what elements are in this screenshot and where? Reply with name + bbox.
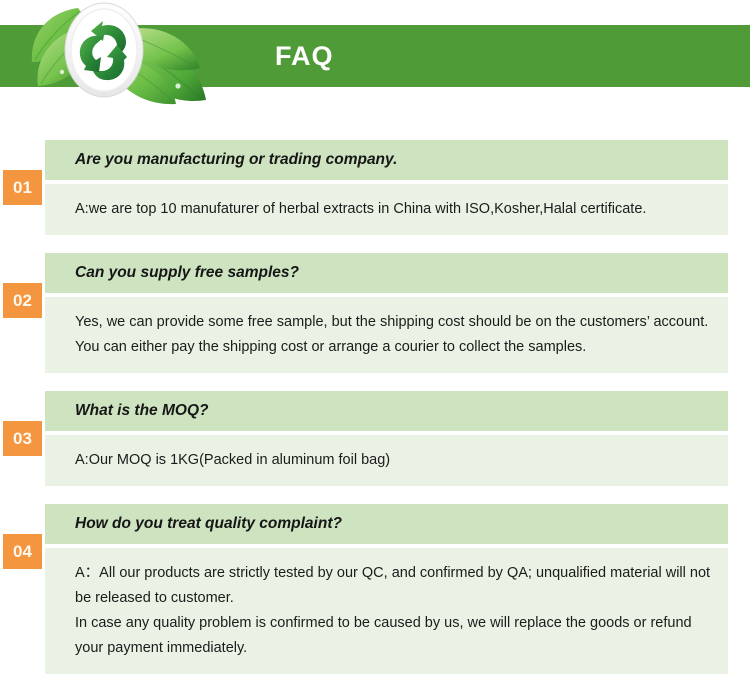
- faq-number-badge: 02: [3, 283, 42, 318]
- leaf-recycle-logo: [18, 0, 233, 112]
- page-title: FAQ: [275, 38, 334, 74]
- faq-item: 03 What is the MOQ? A:Our MOQ is 1KG(Pac…: [0, 391, 750, 486]
- faq-item: 01 Are you manufacturing or trading comp…: [0, 140, 750, 235]
- faq-answer-text: A:we are top 10 manufaturer of herbal ex…: [75, 197, 714, 222]
- faq-answer: A:Our MOQ is 1KG(Packed in aluminum foil…: [45, 435, 728, 486]
- faq-number-badge: 04: [3, 534, 42, 569]
- faq-answer: A:we are top 10 manufaturer of herbal ex…: [45, 184, 728, 235]
- faq-answer-text: Yes, we can provide some free sample, bu…: [75, 310, 714, 360]
- faq-list: 01 Are you manufacturing or trading comp…: [0, 140, 750, 692]
- faq-item: 02 Can you supply free samples? Yes, we …: [0, 253, 750, 373]
- faq-question-text: How do you treat quality complaint?: [75, 514, 342, 534]
- faq-question-text: Can you supply free samples?: [75, 263, 299, 283]
- faq-answer-text: A:Our MOQ is 1KG(Packed in aluminum foil…: [75, 448, 714, 473]
- faq-answer: Yes, we can provide some free sample, bu…: [45, 297, 728, 373]
- faq-answer: A：All our products are strictly tested b…: [45, 548, 728, 674]
- page-header: FAQ: [0, 0, 750, 120]
- faq-question-text: What is the MOQ?: [75, 401, 208, 421]
- faq-question: What is the MOQ?: [45, 391, 728, 431]
- faq-question: Can you supply free samples?: [45, 253, 728, 293]
- faq-question: How do you treat quality complaint?: [45, 504, 728, 544]
- faq-number-badge: 01: [3, 170, 42, 205]
- faq-answer-text: A：All our products are strictly tested b…: [75, 561, 714, 661]
- faq-question: Are you manufacturing or trading company…: [45, 140, 728, 180]
- faq-number-badge: 03: [3, 421, 42, 456]
- faq-item: 04 How do you treat quality complaint? A…: [0, 504, 750, 674]
- faq-question-text: Are you manufacturing or trading company…: [75, 150, 397, 170]
